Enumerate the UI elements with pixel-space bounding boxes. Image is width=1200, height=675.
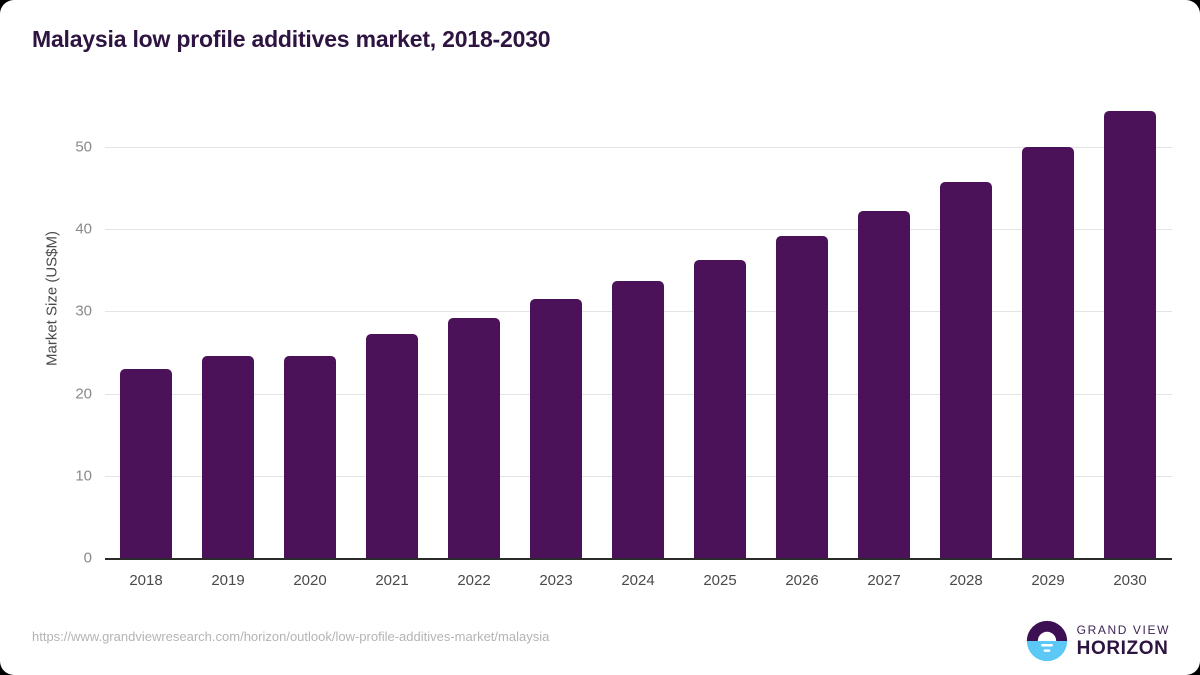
- x-axis-line: [105, 558, 1172, 560]
- x-axis-tick-label: 2022: [433, 572, 515, 589]
- x-axis-tick-label: 2029: [1007, 572, 1089, 589]
- x-axis-tick-label: 2021: [351, 572, 433, 589]
- x-axis-tick-label: 2030: [1089, 572, 1171, 589]
- x-axis-tick-label: 2028: [925, 572, 1007, 589]
- y-axis-tick-label: 30: [32, 303, 92, 320]
- bar-2026[interactable]: [776, 236, 828, 558]
- x-axis-tick-label: 2018: [105, 572, 187, 589]
- bar-2019[interactable]: [202, 356, 254, 558]
- horizon-sun-circle-icon: [1026, 620, 1068, 662]
- brand-logo-line2: HORIZON: [1077, 639, 1170, 658]
- brand-logo: GRAND VIEW HORIZON: [1026, 620, 1170, 662]
- y-axis-tick-label: 10: [32, 467, 92, 484]
- bar-2030[interactable]: [1104, 111, 1156, 558]
- x-axis-tick-label: 2025: [679, 572, 761, 589]
- brand-logo-line1: GRAND VIEW: [1077, 624, 1170, 636]
- y-axis-tick-label: 50: [32, 139, 92, 156]
- gridline: [105, 147, 1172, 148]
- x-axis-tick-label: 2023: [515, 572, 597, 589]
- y-axis-tick-label: 0: [32, 550, 92, 567]
- x-axis-tick-label: 2027: [843, 572, 925, 589]
- bar-2021[interactable]: [366, 334, 418, 558]
- source-url: https://www.grandviewresearch.com/horizo…: [32, 629, 549, 644]
- x-axis-tick-label: 2019: [187, 572, 269, 589]
- bar-2020[interactable]: [284, 356, 336, 558]
- x-axis-tick-label: 2024: [597, 572, 679, 589]
- y-axis-tick-label: 20: [32, 385, 92, 402]
- bar-2029[interactable]: [1022, 147, 1074, 558]
- bar-2018[interactable]: [120, 369, 172, 558]
- bar-2023[interactable]: [530, 299, 582, 558]
- y-axis-tick-label: 40: [32, 221, 92, 238]
- gridline: [105, 229, 1172, 230]
- bar-2027[interactable]: [858, 211, 910, 558]
- bar-2024[interactable]: [612, 281, 664, 558]
- x-axis-tick-label: 2020: [269, 572, 351, 589]
- x-axis-tick-label: 2026: [761, 572, 843, 589]
- bar-2025[interactable]: [694, 260, 746, 558]
- chart-plot-area: Market Size (US$M) 01020304050 201820192…: [0, 0, 1200, 675]
- bar-2022[interactable]: [448, 318, 500, 558]
- bar-2028[interactable]: [940, 182, 992, 558]
- brand-logo-text: GRAND VIEW HORIZON: [1077, 624, 1170, 658]
- chart-page: Malaysia low profile additives market, 2…: [0, 0, 1200, 675]
